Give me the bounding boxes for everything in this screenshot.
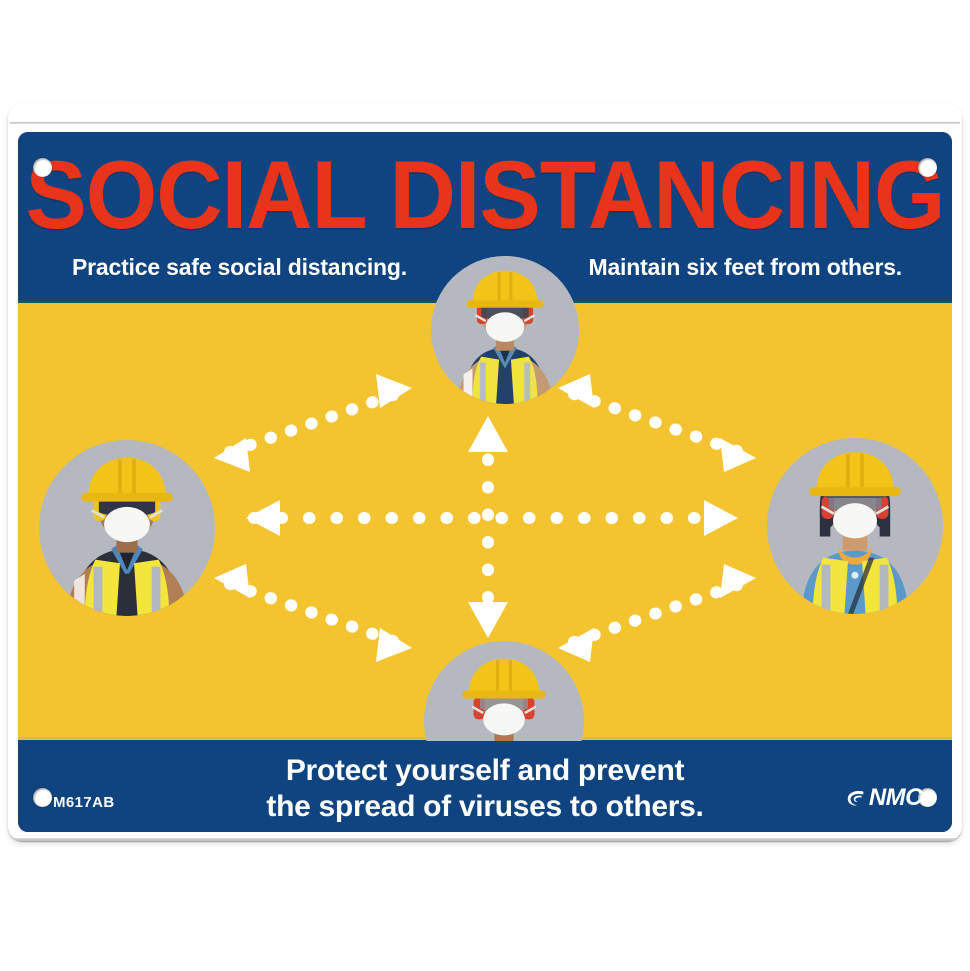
sign-code: M617AB [53, 794, 115, 811]
nmc-wordmark: NMC [869, 786, 922, 810]
footer-line-1: Protect yourself and prevent [18, 753, 952, 789]
plate-bottom-edge [14, 838, 956, 841]
worker-avatar-right [767, 438, 943, 614]
worker-avatar-bottom [424, 641, 584, 741]
worker-avatar-top [431, 256, 579, 404]
sign-face: SOCIAL DISTANCING Practice safe social d… [18, 132, 952, 832]
mounting-hole-top-left [33, 158, 52, 177]
screenshot-root: SOCIAL DISTANCING Practice safe social d… [0, 0, 970, 971]
nmc-swoosh-icon [845, 787, 867, 809]
footer-line-2: the spread of viruses to others. [18, 789, 952, 825]
subtitle-right: Maintain six feet from others. [588, 254, 902, 280]
page-title: SOCIAL DISTANCING [18, 142, 952, 250]
footer-content: Protect yourself and prevent the spread … [18, 740, 952, 832]
worker-avatar-bottom-clip [424, 641, 584, 741]
footer-message: Protect yourself and prevent the spread … [18, 753, 952, 825]
mounting-hole-top-right [918, 158, 937, 177]
worker-avatar-left [39, 440, 215, 616]
plate-top-edge [10, 122, 960, 124]
subtitle-left: Practice safe social distancing. [72, 254, 407, 280]
nmc-logo: NMC [845, 786, 922, 810]
